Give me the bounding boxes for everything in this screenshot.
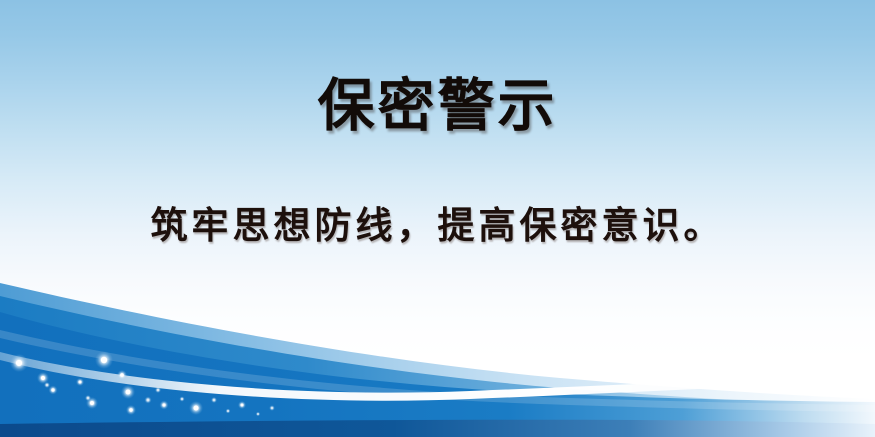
secrecy-warning-poster: 保密警示 筑牢思想防线，提高保密意识。: [0, 0, 875, 437]
text-layer: 保密警示 筑牢思想防线，提高保密意识。: [0, 0, 875, 437]
page-title: 保密警示: [0, 78, 875, 135]
page-subtitle: 筑牢思想防线，提高保密意识。: [0, 207, 875, 244]
